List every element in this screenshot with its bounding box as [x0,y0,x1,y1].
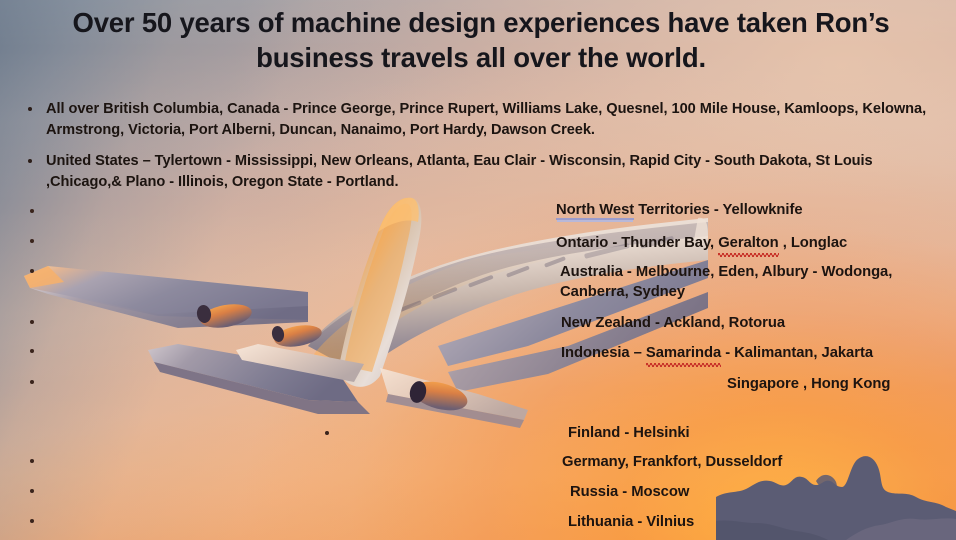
country-line-singapore: Singapore , Hong Kong [727,375,890,395]
country-line-text: Singapore , Hong Kong [727,376,890,392]
country-line-text: Australia - Melbourne, Eden, Albury - Wo… [560,264,892,300]
country-line-text: , Longlac [779,235,848,251]
underlined-text[interactable]: North West [556,202,634,220]
bullet-dot-icon [30,489,34,493]
country-line-ontario: Ontario - Thunder Bay, Geralton , Longla… [556,234,847,254]
country-line-text: Indonesia – [561,345,646,361]
country-line-australia: Australia - Melbourne, Eden, Albury - Wo… [560,263,950,303]
country-line-lithuania: Lithuania - Vilnius [568,513,694,533]
bullet-dot-icon [30,349,34,353]
list-item-text: United States – Tylertown - Mississippi,… [46,153,873,190]
country-line-text: Ontario - Thunder Bay, [556,235,718,251]
country-line-text: Territories - Yellowknife [634,202,802,218]
spellcheck-flagged-word[interactable]: Geralton [718,234,778,254]
bullet-dot-icon [30,519,34,523]
country-line-finland: Finland - Helsinki [568,424,690,444]
cloud-silhouette [716,435,956,540]
bullet-dot-icon [325,431,329,435]
country-line-text: Finland - Helsinki [568,425,690,441]
country-line-text: New Zealand - Ackland, Rotorua [561,315,785,331]
slide-title: Over 50 years of machine design experien… [36,6,926,75]
bullet-dot-icon [30,239,34,243]
country-line-text: Russia - Moscow [570,484,689,500]
country-line-north-west-territories: North West Territories - Yellowknife [556,201,803,221]
bullet-dot-icon [28,107,32,111]
bullet-dot-icon [30,269,34,273]
list-item-text: All over British Columbia, Canada - Prin… [46,101,926,138]
spellcheck-flagged-word[interactable]: Samarinda [646,344,721,364]
country-line-new-zealand: New Zealand - Ackland, Rotorua [561,314,785,334]
bullet-dot-icon [30,380,34,384]
country-line-text: Lithuania - Vilnius [568,514,694,530]
country-line-text: - Kalimantan, Jakarta [721,345,873,361]
list-item: All over British Columbia, Canada - Prin… [22,99,940,141]
list-item: United States – Tylertown - Mississippi,… [22,151,940,193]
bullet-dot-icon [28,159,32,163]
country-line-indonesia: Indonesia – Samarinda - Kalimantan, Jaka… [561,344,873,364]
top-bullet-list: All over British Columbia, Canada - Prin… [22,99,940,203]
slide-canvas: Over 50 years of machine design experien… [0,0,956,540]
bullet-dot-icon [30,459,34,463]
country-line-text: Germany, Frankfort, Dusseldorf [562,454,782,470]
bullet-dot-icon [30,209,34,213]
bullet-dot-icon [30,320,34,324]
country-line-germany: Germany, Frankfort, Dusseldorf [562,453,782,473]
country-line-russia: Russia - Moscow [570,483,689,503]
